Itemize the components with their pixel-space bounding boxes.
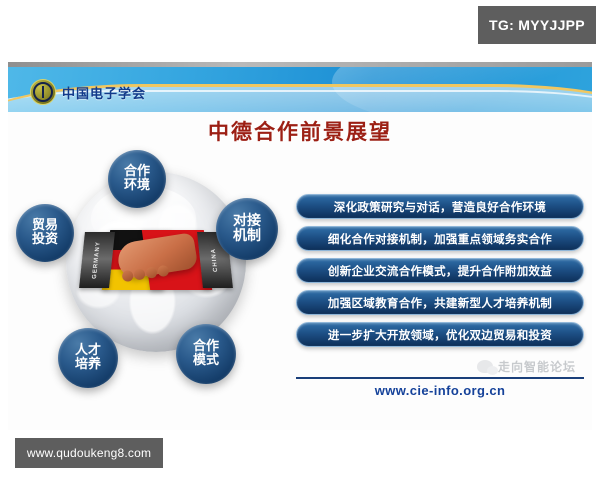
footer-brand-text: 走向智能论坛 — [498, 358, 576, 375]
germany-cuff: GERMANY — [79, 232, 115, 288]
slide-banner: 中国电子学会 — [8, 67, 592, 112]
presentation-slide: 中国电子学会 中德合作前景展望 ★ ★ ★ ★ ★ — [8, 62, 592, 430]
footer-brand: 走向智能论坛 — [296, 358, 584, 375]
germany-cuff-label: GERMANY — [92, 241, 102, 279]
site-watermark: www.qudoukeng8.com — [15, 438, 163, 468]
bullet-bar[interactable]: 进一步扩大开放领域，优化双边贸易和投资 — [296, 322, 584, 347]
organization-logo: 中国电子学会 — [30, 79, 146, 105]
bubble-label-line1: 贸易 — [32, 219, 58, 233]
bubble-label-line1: 人才 — [75, 344, 101, 358]
bubble-trade-investment[interactable]: 贸易 投资 — [16, 204, 74, 262]
bubble-cooperation-model[interactable]: 合作 模式 — [176, 324, 236, 384]
bubble-label-line2: 培养 — [75, 358, 101, 372]
cie-circular-emblem-icon — [30, 79, 56, 105]
bullet-bar[interactable]: 加强区域教育合作，共建新型人才培养机制 — [296, 290, 584, 315]
bullet-bar[interactable]: 细化合作对接机制，加强重点领域务实合作 — [296, 226, 584, 251]
bullet-bar-list: 深化政策研究与对话，营造良好合作环境 细化合作对接机制，加强重点领域务实合作 创… — [296, 194, 584, 354]
bubble-label-line2: 模式 — [193, 354, 219, 368]
bubble-label-line2: 机制 — [233, 229, 261, 244]
bubble-label-line2: 投资 — [32, 233, 58, 247]
bubble-cooperation-environment[interactable]: 合作 环境 — [108, 150, 166, 208]
bubble-label-line1: 合作 — [124, 165, 150, 179]
footer-divider — [296, 377, 584, 379]
bullet-bar[interactable]: 创新企业交流合作模式，提升合作附加效益 — [296, 258, 584, 283]
cooperation-diagram: ★ ★ ★ ★ ★ GERMANY CHINA — [8, 140, 303, 420]
bullet-bar[interactable]: 深化政策研究与对话，营造良好合作环境 — [296, 194, 584, 219]
bubble-label-line1: 合作 — [193, 340, 219, 354]
germany-china-handshake: ★ ★ ★ ★ ★ GERMANY CHINA — [88, 224, 224, 296]
footer-url[interactable]: www.cie-info.org.cn — [296, 383, 584, 398]
bubble-label-line1: 对接 — [233, 214, 261, 229]
slide-footer: 走向智能论坛 www.cie-info.org.cn — [296, 358, 584, 398]
bubble-talent-cultivation[interactable]: 人才 培养 — [58, 328, 118, 388]
organization-logo-text: 中国电子学会 — [62, 83, 146, 102]
bubble-label-line2: 环境 — [124, 179, 150, 193]
tg-watermark-badge: TG: MYYJJPP — [478, 6, 596, 44]
screenshot-root: TG: MYYJJPP 中国电子学会 中德合作前景展望 — [0, 0, 600, 480]
wechat-icon — [477, 360, 493, 373]
china-cuff-label: CHINA — [211, 248, 220, 272]
bubble-docking-mechanism[interactable]: 对接 机制 — [216, 198, 278, 260]
